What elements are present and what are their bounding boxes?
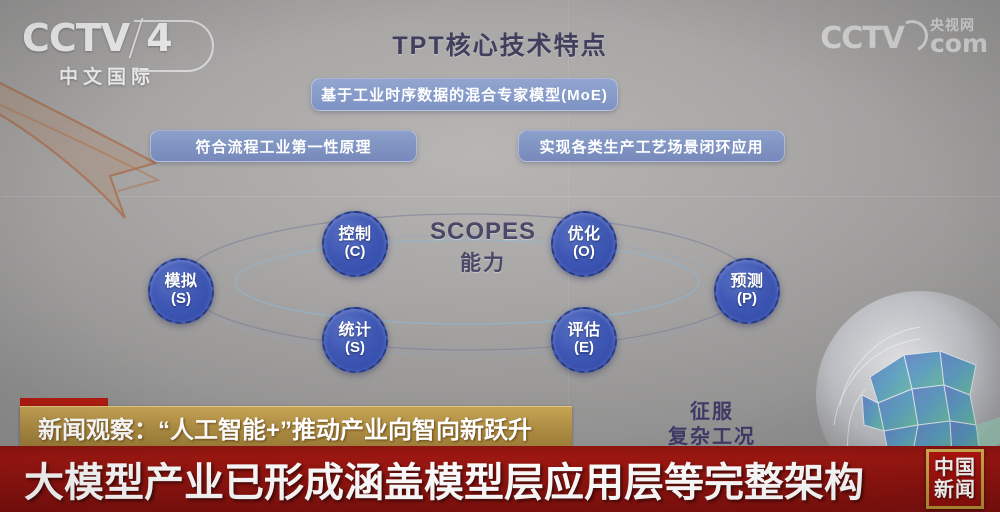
node-optimize: 优化 (O)	[551, 211, 617, 277]
program-badge-line1: 中国	[934, 457, 976, 479]
node-predict: 预测 (P)	[714, 258, 780, 324]
program-badge-inner: 中国 新闻	[929, 452, 981, 506]
node-label-cn: 模拟	[164, 274, 197, 291]
program-badge-line2: 新闻	[934, 479, 976, 501]
node-label-cn: 评估	[567, 323, 600, 340]
node-label-cn: 优化	[567, 227, 600, 244]
node-label-cn: 统计	[338, 323, 371, 340]
node-label-en: (S)	[345, 340, 365, 357]
scopes-center-label: SCOPES 能力	[413, 218, 553, 277]
node-label-en: (S)	[171, 291, 191, 308]
node-label-en: (C)	[345, 244, 366, 261]
occluded-caption-line1: 征服	[668, 400, 756, 425]
node-evaluate: 评估 (E)	[551, 307, 617, 373]
program-badge: 中国 新闻	[926, 449, 984, 509]
node-label-en: (E)	[574, 340, 594, 357]
scopes-acronym: SCOPES	[413, 218, 553, 246]
headline-text: 大模型产业已形成涵盖模型层应用层等完整架构	[0, 450, 864, 508]
node-label-en: (P)	[737, 291, 757, 308]
feature-pill-moe: 基于工业时序数据的混合专家模型(MoE)	[311, 78, 618, 111]
node-simulation: 模拟 (S)	[148, 258, 214, 324]
node-control: 控制 (C)	[322, 211, 388, 277]
topic-bar: 新闻观察：“人工智能+”推动产业向智向新跃升	[20, 406, 572, 447]
broadcast-screen: CCTV 4 中文国际 CCTV 央视网 com TPT核心技术特点 基于工业时…	[0, 0, 1000, 512]
node-statistics: 统计 (S)	[322, 307, 388, 373]
occluded-caption: 征服 复杂工况	[668, 400, 756, 450]
topic-text: 新闻观察：“人工智能+”推动产业向智向新跃升	[20, 410, 532, 445]
headline-bar: 大模型产业已形成涵盖模型层应用层等完整架构	[0, 446, 1000, 512]
node-label-cn: 控制	[338, 227, 371, 244]
node-label-cn: 预测	[730, 274, 763, 291]
node-label-en: (O)	[573, 244, 595, 261]
slide-title: TPT核心技术特点	[0, 26, 1000, 62]
scopes-subtitle: 能力	[413, 247, 553, 277]
